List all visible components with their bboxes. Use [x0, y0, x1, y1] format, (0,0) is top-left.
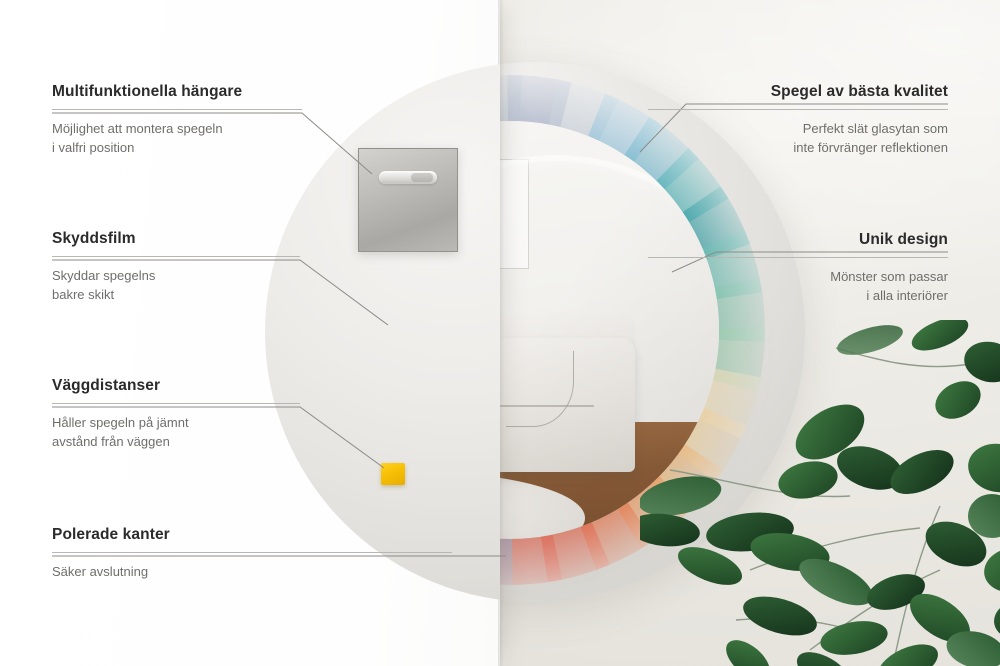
callout-rule: [648, 109, 948, 110]
callout-best-quality-mirror: Spegel av bästa kvalitet Perfekt slät gl…: [648, 82, 948, 157]
callout-desc-line1: Perfekt slät glasytan som: [648, 119, 948, 138]
callout-title: Spegel av bästa kvalitet: [648, 82, 948, 102]
callout-protective-film: Skyddsfilm Skyddar spegelns bakre skikt: [52, 229, 300, 304]
yellow-spacer: [381, 463, 405, 485]
leaf-branches-icon: [640, 320, 1000, 666]
callout-rule: [52, 256, 300, 257]
callout-desc-line2: i valfri position: [52, 138, 302, 157]
callout-desc-line1: Mönster som passar: [648, 267, 948, 286]
product-infographic: Multifunktionella hängare Möjlighet att …: [0, 0, 1000, 666]
callout-wall-spacers: Väggdistanser Håller spegeln på jämnt av…: [52, 376, 300, 451]
hanger-slot: [379, 171, 437, 184]
callout-desc-line1: Håller spegeln på jämnt: [52, 413, 300, 432]
callout-title: Unik design: [648, 230, 948, 250]
callout-multifunctional-hangers: Multifunktionella hängare Möjlighet att …: [52, 82, 302, 157]
callout-rule: [52, 109, 302, 110]
hanger-plate: [358, 148, 458, 252]
callout-desc-line2: i alla interiörer: [648, 286, 948, 305]
callout-desc-line2: avstånd från väggen: [52, 432, 300, 451]
callout-unique-design: Unik design Mönster som passar i alla in…: [648, 230, 948, 305]
callout-title: Multifunktionella hängare: [52, 82, 302, 102]
callout-title: Polerade kanter: [52, 525, 452, 545]
callout-title: Väggdistanser: [52, 376, 300, 396]
callout-desc-line1: Säker avslutning: [52, 562, 452, 581]
callout-title: Skyddsfilm: [52, 229, 300, 249]
callout-desc-line2: inte förvränger reflektionen: [648, 138, 948, 157]
callout-polished-edges: Polerade kanter Säker avslutning: [52, 525, 452, 581]
foliage-decoration: [640, 320, 1000, 666]
callout-rule: [52, 403, 300, 404]
callout-desc-line2: bakre skikt: [52, 285, 300, 304]
callout-desc-line1: Möjlighet att montera spegeln: [52, 119, 302, 138]
callout-rule: [648, 257, 948, 258]
callout-rule: [52, 552, 452, 553]
callout-desc-line1: Skyddar spegelns: [52, 266, 300, 285]
